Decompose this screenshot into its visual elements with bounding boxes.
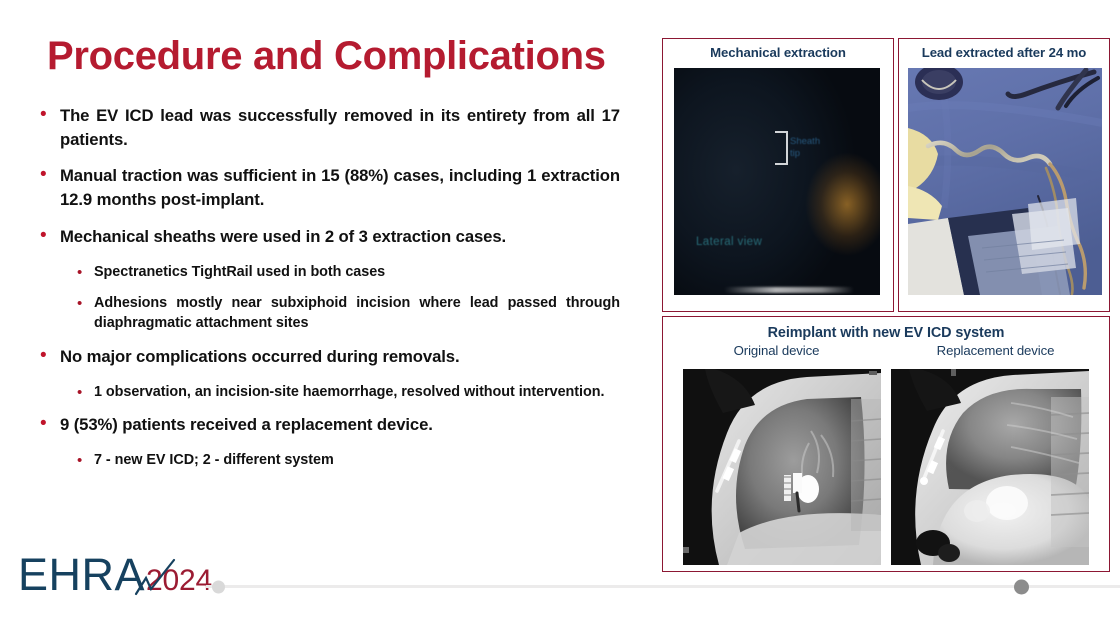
fluoroscopy-image: Sheath tip Lateral view	[674, 68, 880, 295]
list-item: • Adhesions mostly near subxiphoid incis…	[77, 293, 620, 334]
panel-caption-reimplant: Reimplant with new EV ICD system	[663, 317, 1109, 341]
bullet-marker-icon: •	[40, 104, 60, 125]
fluoroscopy-view-label: Lateral view	[696, 236, 762, 248]
bullet-marker-icon: •	[77, 450, 94, 470]
subcaption-replacement-device: Replacement device	[886, 343, 1105, 358]
list-item: • 1 observation, an incision-site haemor…	[77, 382, 620, 402]
list-item: • No major complications occurred during…	[40, 345, 620, 369]
fluoroscopy-bottom-glare	[724, 287, 854, 293]
sheath-tip-bracket-icon	[775, 131, 788, 165]
bullet-marker-icon: •	[40, 345, 60, 366]
xray-replacement-device	[891, 369, 1089, 565]
list-item: • 9 (53%) patients received a replacemen…	[40, 413, 620, 437]
xray-image-row	[663, 369, 1109, 565]
list-item-text: No major complications occurred during r…	[60, 345, 620, 369]
panel-lead-extracted: Lead extracted after 24 mo	[898, 38, 1110, 312]
list-item-text: 7 - new EV ICD; 2 - different system	[94, 450, 620, 470]
chest-xray-replacement-illustration	[891, 369, 1089, 565]
chest-xray-original-illustration	[683, 369, 881, 565]
list-item: • Manual traction was sufficient in 15 (…	[40, 164, 620, 211]
surgical-field-illustration	[908, 68, 1102, 295]
list-item: • Mechanical sheaths were used in 2 of 3…	[40, 225, 620, 249]
slide-progress-bar[interactable]	[206, 585, 1120, 588]
list-item-text: 9 (53%) patients received a replacement …	[60, 413, 620, 437]
list-item-text: Adhesions mostly near subxiphoid incisio…	[94, 293, 620, 334]
logo-name-text: EHRA	[18, 552, 145, 597]
bullet-marker-icon: •	[77, 382, 94, 402]
panel-subcaption-row: Original device Replacement device	[663, 341, 1109, 358]
ehra-logo: EHRA 2024	[18, 552, 212, 604]
panel-reimplant: Reimplant with new EV ICD system Origina…	[662, 316, 1110, 572]
bullet-marker-icon: •	[40, 413, 60, 434]
subcaption-original-device: Original device	[667, 343, 886, 358]
bullet-marker-icon: •	[40, 225, 60, 246]
panel-caption-lead-extracted: Lead extracted after 24 mo	[899, 39, 1109, 61]
panel-caption-mechanical-extraction: Mechanical extraction	[663, 39, 893, 61]
list-item: • 7 - new EV ICD; 2 - different system	[77, 450, 620, 470]
list-item: • The EV ICD lead was successfully remov…	[40, 104, 620, 151]
surgical-photo-image	[908, 68, 1102, 295]
list-item-text: 1 observation, an incision-site haemorrh…	[94, 382, 620, 402]
xray-original-device	[683, 369, 881, 565]
page-title: Procedure and Complications	[47, 34, 606, 79]
bullet-marker-icon: •	[77, 293, 94, 313]
panel-mechanical-extraction: Mechanical extraction Sheath tip Lateral…	[662, 38, 894, 312]
progress-dot-current[interactable]	[1014, 579, 1029, 594]
bullet-marker-icon: •	[77, 262, 94, 282]
bullet-marker-icon: •	[40, 164, 60, 185]
list-item-text: The EV ICD lead was successfully removed…	[60, 104, 620, 151]
slide-left-content: Procedure and Complications • The EV ICD…	[0, 0, 648, 630]
logo-year-text: 2024	[146, 566, 212, 596]
fluoroscopy-annotation-label: Sheath tip	[790, 136, 820, 160]
bullet-list: • The EV ICD lead was successfully remov…	[40, 104, 620, 481]
list-item: • Spectranetics TightRail used in both c…	[77, 262, 620, 282]
progress-dot-start[interactable]	[212, 580, 225, 593]
list-item-text: Spectranetics TightRail used in both cas…	[94, 262, 620, 282]
list-item-text: Manual traction was sufficient in 15 (88…	[60, 164, 620, 211]
list-item-text: Mechanical sheaths were used in 2 of 3 e…	[60, 225, 620, 249]
